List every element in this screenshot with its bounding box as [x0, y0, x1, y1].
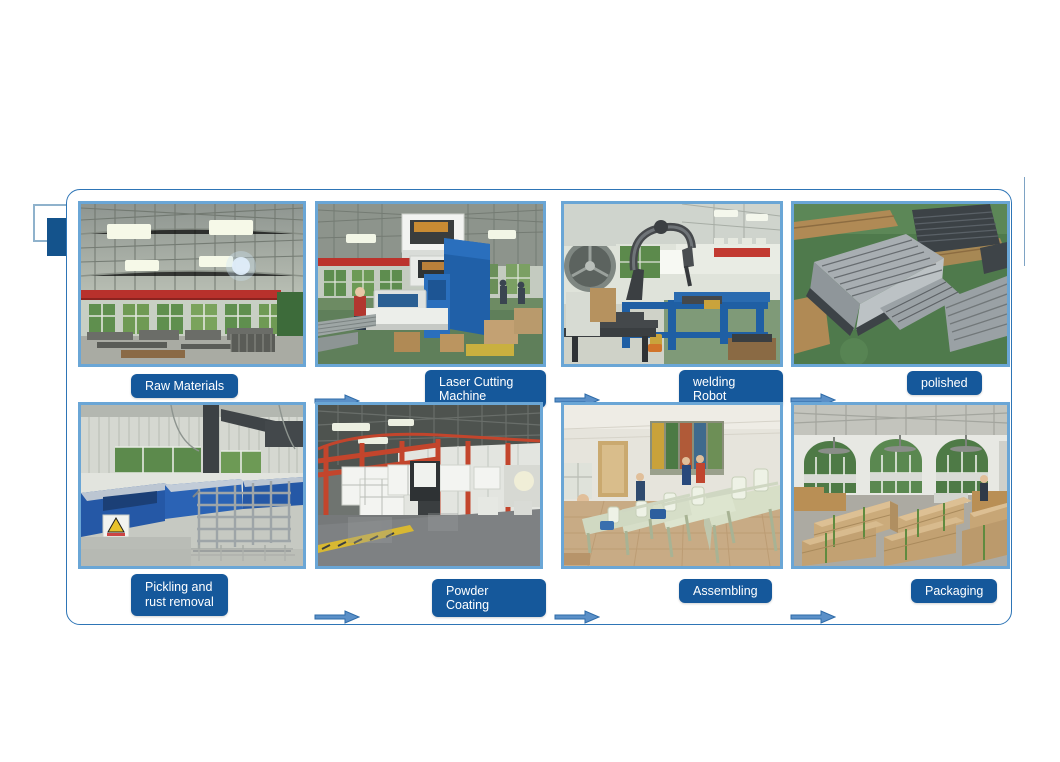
photo-welding-robot [561, 201, 783, 367]
workflow-row-1: Raw Materials [67, 196, 1013, 406]
slide-canvas: Production Workflow Chart [0, 0, 1060, 762]
photo-assembling [561, 402, 783, 569]
step-label-pickling-and-rust-removal[interactable]: Pickling and rust removal [131, 574, 228, 616]
slide-header: Production Workflow Chart [0, 95, 1060, 170]
workflow-step-powder-coating[interactable]: Powder Coating [315, 402, 546, 612]
arrow-right-icon-5 [554, 610, 600, 624]
arrow-right-icon-4 [314, 610, 360, 624]
workflow-container: Raw Materials [66, 189, 1012, 625]
step-label-raw-materials[interactable]: Raw Materials [131, 374, 238, 398]
workflow-step-packaging[interactable]: Packaging [791, 402, 1013, 612]
step-label-polished[interactable]: polished [907, 371, 982, 395]
workflow-step-pickling-and-rust-removal[interactable]: Pickling and rust removal [78, 402, 306, 612]
workflow-step-raw-materials[interactable]: Raw Materials [78, 196, 306, 406]
step-label-packaging[interactable]: Packaging [911, 579, 997, 603]
workflow-step-assembling[interactable]: Assembling [561, 402, 783, 612]
header-vertical-rule [1024, 177, 1025, 266]
workflow-step-laser-cutting-machine[interactable]: Laser Cutting Machine [315, 196, 546, 406]
workflow-step-welding-robot[interactable]: welding Robot [561, 196, 783, 406]
arrow-right-icon-6 [790, 610, 836, 624]
photo-laser-cutting-machine [315, 201, 546, 367]
photo-powder-coating [315, 402, 543, 569]
photo-packaging [791, 402, 1010, 569]
photo-raw-materials [78, 201, 306, 367]
step-label-assembling[interactable]: Assembling [679, 579, 772, 603]
photo-pickling-and-rust-removal [78, 402, 306, 569]
step-label-powder-coating[interactable]: Powder Coating [432, 579, 546, 617]
workflow-step-polished[interactable]: polished [791, 196, 1013, 406]
photo-polished [791, 201, 1010, 367]
workflow-row-2: Pickling and rust removal [67, 402, 1013, 612]
